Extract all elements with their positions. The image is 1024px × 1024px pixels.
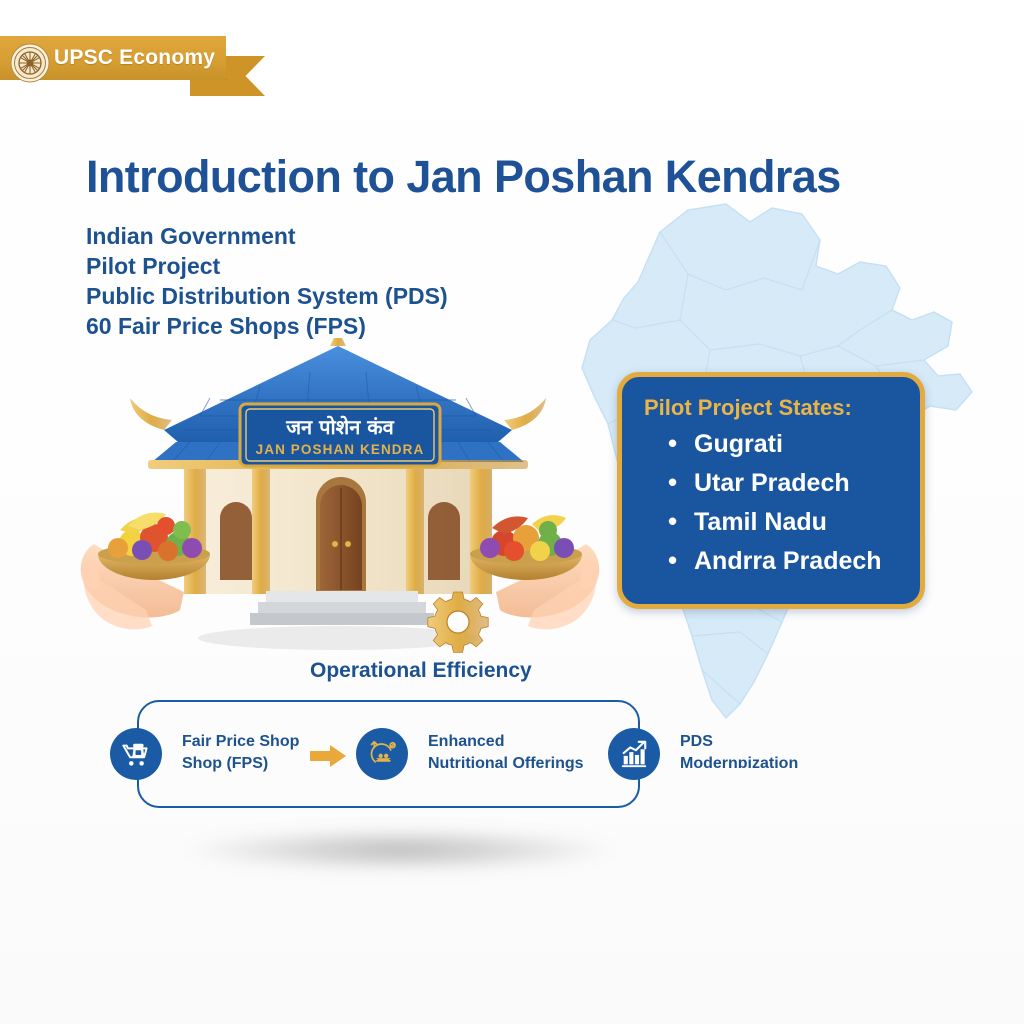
svg-text:जन पोशेन कंव: जन पोशेन कंव [285,415,394,439]
banner-label: UPSC Economy [54,46,215,70]
hand-holding-fruit-bowl-icon [81,513,210,630]
subtitle-block: Indian Government Pilot Project Public D… [86,221,606,341]
flow-drop-shadow [185,828,615,872]
building-steps [250,591,434,625]
subtitle-line-3: Public Distribution System (PDS) [86,281,606,311]
nutrition-bowl-icon [367,739,398,770]
operational-efficiency-heading: Operational Efficiency [310,659,532,683]
flow-step-3-label: PDS Modernɒization [680,731,798,775]
ashoka-chakra-icon [10,43,50,83]
subtitle-line-1: Indian Government [86,221,606,251]
shopping-cart-icon [121,739,151,769]
list-item: Utar Pradech [668,464,906,503]
list-item: Andrra Pradech [668,542,906,581]
pilot-states-list: Gugrati Utar Pradech Tamil Nadu Andrra P… [668,425,906,581]
infographic-canvas: UPSC Economy Introduction to Jan Poshan … [0,0,1024,1024]
flow-step-2-line2: Nutritional Offerings [428,753,584,775]
flow-step-3-badge [608,728,660,780]
flow-step-2-line1: Enhanced [428,731,584,753]
flow-step-3-line2: Modernɒization [680,753,798,775]
flow-step-1-line1: Fair Price Shop [182,731,299,753]
gear-icon [428,592,488,652]
growth-chart-icon [619,739,649,769]
building-facade [184,469,492,594]
kendra-signboard: जन पोशेन कंव JAN POSHAN KENDRA [240,404,440,466]
list-item: Gugrati [668,425,906,464]
jan-poshan-kendra-illustration: जन पोशेन कंव JAN POSHAN KENDRA [80,338,600,668]
flow-step-2-label: Enhanced Nutritional Offerings [428,731,584,775]
flow-step-1-line2: Shop (FPS) [182,753,299,775]
flow-step-1-label: Fair Price Shop Shop (FPS) [182,731,299,775]
flow-step-3-line1: PDS [680,731,798,753]
pilot-states-card: Pilot Project States: Gugrati Utar Prade… [617,372,925,609]
subtitle-line-4: 60 Fair Price Shops (FPS) [86,311,606,341]
banner-ribbon: UPSC Economy [0,18,275,80]
list-item: Tamil Nadu [668,503,906,542]
arrow-right-icon [310,745,346,767]
pilot-states-title: Pilot Project States: [644,395,906,421]
flow-step-2-badge [356,728,408,780]
svg-text:JAN POSHAN KENDRA: JAN POSHAN KENDRA [256,442,425,457]
subtitle-line-2: Pilot Project [86,251,606,281]
page-title: Introduction to Jan Poshan Kendras [86,152,966,202]
flow-step-1-badge [110,728,162,780]
